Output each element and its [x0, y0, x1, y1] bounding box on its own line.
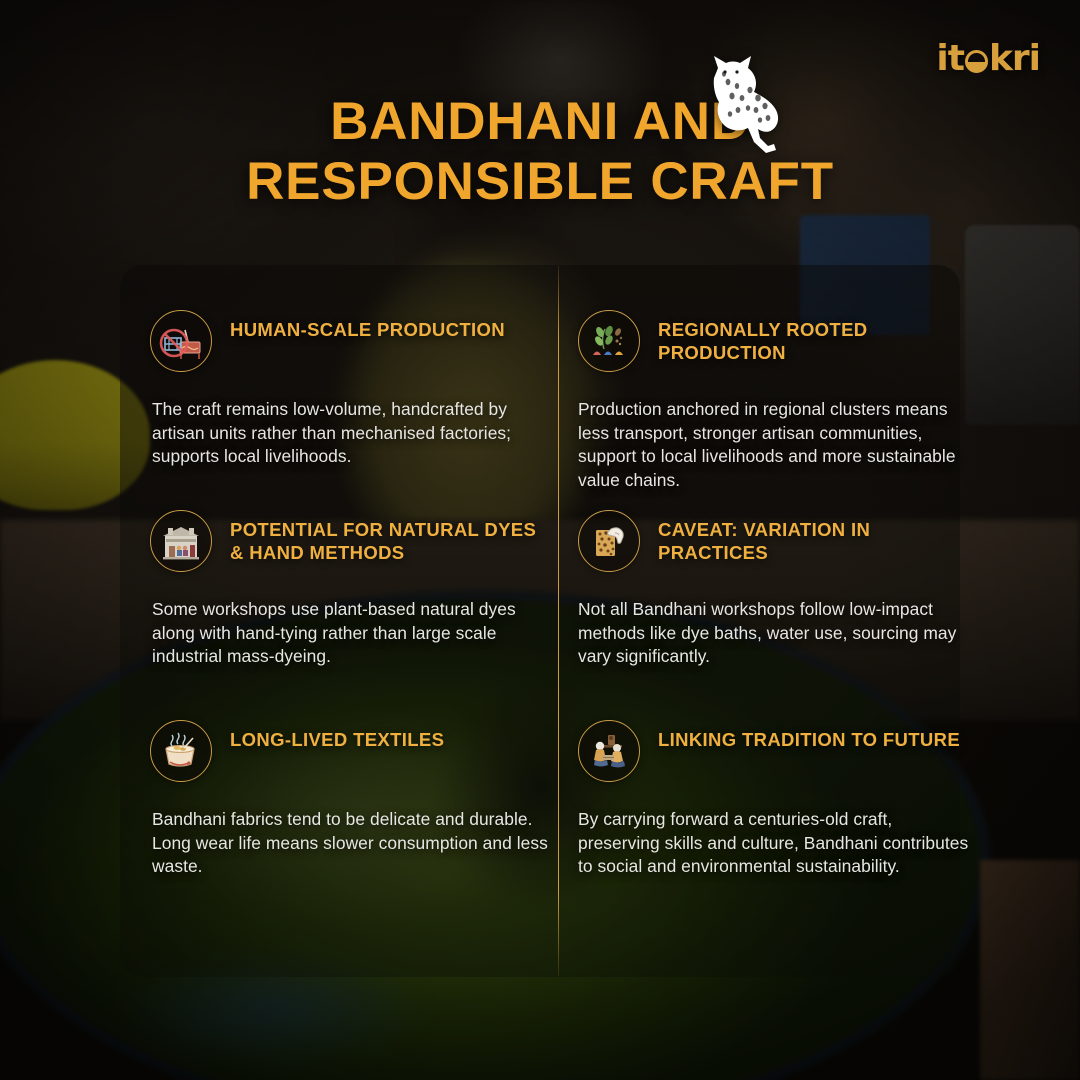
leaves-natural-dye-mounds-icon	[578, 310, 640, 372]
card-body: The craft remains low-volume, handcrafte…	[152, 398, 550, 469]
card-long-lived-textiles: LONG-LIVED TEXTILES Bandhani fabrics ten…	[150, 720, 550, 879]
card-caveat-variation-in-practices: CAVEAT: VARIATION IN PRACTICES Not all B…	[578, 510, 978, 669]
card-header: REGIONALLY ROOTED PRODUCTION	[578, 310, 978, 372]
brand-logo-text-2: kri	[989, 38, 1040, 79]
page-title-line-2: RESPONSIBLE CRAFT	[120, 152, 960, 212]
card-body: Some workshops use plant-based natural d…	[152, 598, 550, 669]
brand-logo[interactable]: it kri	[936, 38, 1040, 79]
workshop-building-icon	[150, 510, 212, 572]
card-title: LINKING TRADITION TO FUTURE	[658, 720, 960, 752]
card-body: By carrying forward a centuries-old craf…	[578, 808, 978, 879]
steaming-dye-pot-icon	[150, 720, 212, 782]
card-header: LINKING TRADITION TO FUTURE	[578, 720, 978, 782]
card-linking-tradition-to-future: LINKING TRADITION TO FUTURE By carrying …	[578, 720, 978, 879]
two-artisans-working-icon	[578, 720, 640, 782]
leopard-cat-icon	[688, 52, 800, 160]
card-body: Not all Bandhani workshops follow low-im…	[578, 598, 978, 669]
card-body: Production anchored in regional clusters…	[578, 398, 978, 493]
card-header: POTENTIAL FOR NATURAL DYES & HAND METHOD…	[150, 510, 550, 572]
brand-logo-mark-icon	[965, 50, 988, 73]
brand-logo-text-1: it	[936, 38, 964, 79]
card-title: HUMAN-SCALE PRODUCTION	[230, 310, 505, 342]
no-machine-handcraft-icon	[150, 310, 212, 372]
header: BANDHANI AND RESPONSIBLE CRAFT	[0, 0, 1080, 250]
hand-holding-patterned-fabric-icon	[578, 510, 640, 572]
card-header: CAVEAT: VARIATION IN PRACTICES	[578, 510, 978, 572]
card-natural-dyes-hand-methods: POTENTIAL FOR NATURAL DYES & HAND METHOD…	[150, 510, 550, 669]
infographic-canvas: BANDHANI AND RESPONSIBLE CRAFT	[0, 0, 1080, 1080]
card-header: HUMAN-SCALE PRODUCTION	[150, 310, 550, 372]
card-header: LONG-LIVED TEXTILES	[150, 720, 550, 782]
page-title-line-1: BANDHANI AND	[120, 92, 960, 152]
card-grid: HUMAN-SCALE PRODUCTION The craft remains…	[120, 265, 960, 977]
card-title: CAVEAT: VARIATION IN PRACTICES	[658, 510, 978, 564]
card-body: Bandhani fabrics tend to be delicate and…	[152, 808, 550, 879]
card-title: LONG-LIVED TEXTILES	[230, 720, 444, 752]
card-title: POTENTIAL FOR NATURAL DYES & HAND METHOD…	[230, 510, 550, 564]
card-human-scale-production: HUMAN-SCALE PRODUCTION The craft remains…	[150, 310, 550, 469]
page-title: BANDHANI AND RESPONSIBLE CRAFT	[0, 92, 1080, 212]
card-regionally-rooted-production: REGIONALLY ROOTED PRODUCTION Production …	[578, 310, 978, 493]
card-title: REGIONALLY ROOTED PRODUCTION	[658, 310, 978, 364]
